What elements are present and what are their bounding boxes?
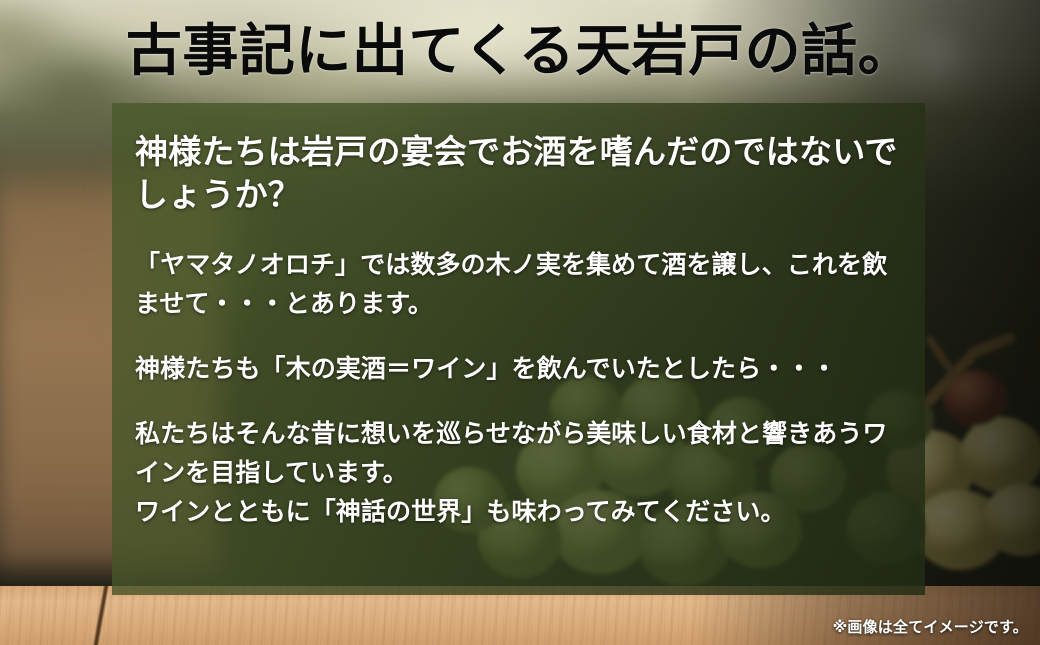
page-title-text: 古事記に出てくる天岩戸の話。	[126, 24, 914, 80]
page-title: 古事記に出てくる天岩戸の話。	[0, 8, 1040, 96]
panel-paragraph-3: 私たちはそんな昔に想いを巡らせながら美味しい食材と響きあうワインを目指しています…	[135, 414, 903, 531]
panel-lead-heading: 神様たちは岩戸の宴会でお酒を嗜んだのではないでしょうか？	[135, 131, 903, 217]
promo-banner: 古事記に出てくる天岩戸の話。 神様たちは岩戸の宴会でお酒を嗜んだのではないでしょ…	[0, 0, 1040, 645]
story-panel: 神様たちは岩戸の宴会でお酒を嗜んだのではないでしょうか？ 「ヤマタノオロチ」では…	[112, 103, 925, 595]
panel-paragraph-1: 「ヤマタノオロチ」では数多の木ノ実を集めて酒を譲し、これを飲ませて・・・とありま…	[135, 245, 903, 323]
image-disclaimer: ※画像は全てイメージです。	[833, 616, 1028, 637]
panel-paragraph-2: 神様たちも「木の実酒＝ワイン」を飲んでいたとしたら・・・	[135, 349, 903, 388]
